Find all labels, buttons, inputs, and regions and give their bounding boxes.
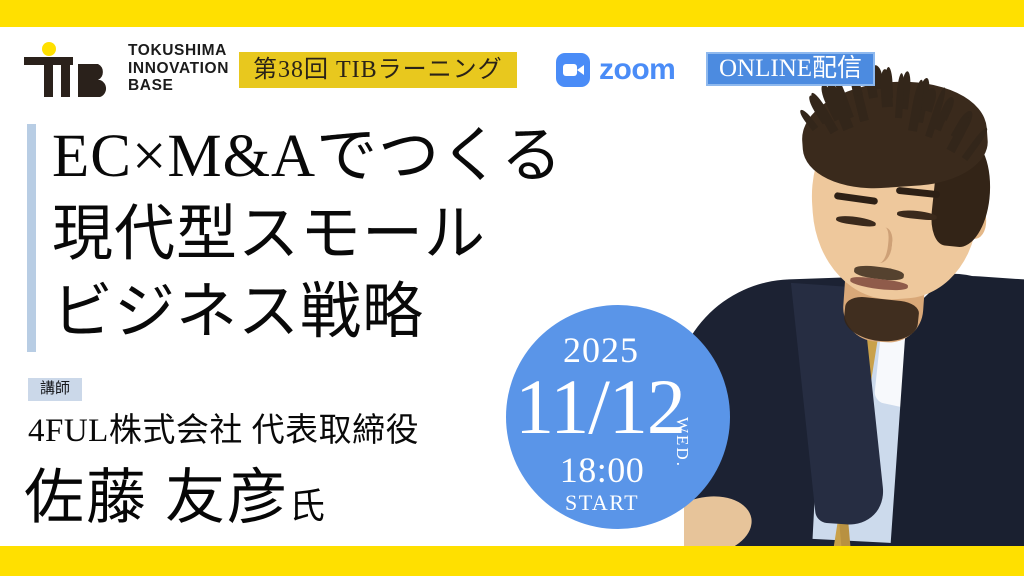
date-day: 11/12 xyxy=(506,365,694,449)
speaker-organization: 4FUL株式会社 代表取締役 xyxy=(28,410,419,452)
top-yellow-bar xyxy=(0,0,1024,27)
zoom-camera-body xyxy=(563,64,577,76)
zoom-logo: zoom xyxy=(556,52,675,88)
speaker-photo xyxy=(684,27,1024,546)
date-time: 18:00 xyxy=(506,449,698,491)
speaker-name-suffix: 氏 xyxy=(289,486,325,526)
title-accent-bar xyxy=(27,124,36,352)
zoom-camera-icon xyxy=(556,53,590,87)
tib-logo: TOKUSHIMA INNOVATION BASE xyxy=(24,36,224,100)
online-broadcast-badge: ONLINE配信 xyxy=(706,52,875,86)
speaker-role-badge: 講師 xyxy=(28,378,82,401)
speaker-name-text: 佐藤 友彦 xyxy=(24,465,289,531)
logo-dot xyxy=(42,42,56,56)
tib-logo-mark xyxy=(24,42,118,97)
zoom-camera-lens xyxy=(577,65,584,75)
date-circle: 2025 11/12 WED. 18:00 START xyxy=(506,305,730,529)
date-start-label: START xyxy=(506,490,698,516)
speaker-name: 佐藤 友彦氏 xyxy=(24,462,325,542)
photo-inner xyxy=(684,27,1024,546)
tib-logo-subtitle: TOKUSHIMA INNOVATION BASE xyxy=(128,42,229,95)
zoom-wordmark: zoom xyxy=(599,53,675,87)
seminar-poster: TOKUSHIMA INNOVATION BASE 第38回 TIBラーニング … xyxy=(0,0,1024,576)
bottom-yellow-bar xyxy=(0,546,1024,576)
series-badge: 第38回 TIBラーニング xyxy=(239,52,517,88)
